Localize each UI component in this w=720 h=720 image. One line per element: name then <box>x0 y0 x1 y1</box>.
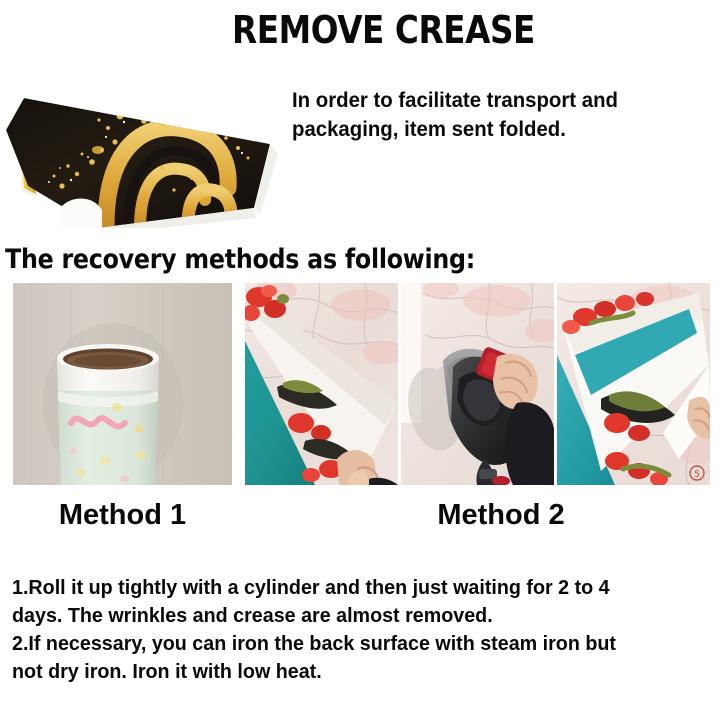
instructions-block: 1.Roll it up tightly with a cylinder and… <box>12 574 703 686</box>
method-2-label: Method 2 <box>401 498 601 532</box>
instruction-line-4: not dry iron. Iron it with low heat. <box>12 658 703 686</box>
iron-back-surface-illustration <box>401 283 554 485</box>
section-heading: The recovery methods as following: <box>5 243 475 276</box>
intro-paragraph: In order to facilitate transport and pac… <box>292 86 709 144</box>
instruction-line-1: 1.Roll it up tightly with a cylinder and… <box>12 574 703 602</box>
page-title: REMOVE CREASE <box>232 8 535 52</box>
photo-iron-back-surface <box>401 283 554 485</box>
instruction-line-3: 2.If necessary, you can iron the back su… <box>12 630 703 658</box>
instruction-line-2: days. The wrinkles and crease are almost… <box>12 602 703 630</box>
svg-text:5: 5 <box>694 470 700 480</box>
result-smooth-fabric-illustration: 5 <box>557 283 710 485</box>
intro-line-1: In order to facilitate transport <box>292 89 576 112</box>
remove-crease-instruction-page: REMOVE CREASE <box>0 0 720 720</box>
method-photo-row: 5 <box>0 283 720 485</box>
method-1-label: Method 1 <box>13 498 232 532</box>
folded-product-photo <box>2 58 287 228</box>
iron-lift-fabric-illustration <box>245 283 398 485</box>
photo-roll-on-cylinder <box>13 283 232 485</box>
photo-result-smooth-fabric: 5 <box>557 283 710 485</box>
photo-iron-lift-fabric <box>245 283 398 485</box>
roll-on-cylinder-illustration <box>13 283 232 485</box>
folded-product-illustration <box>2 58 287 228</box>
